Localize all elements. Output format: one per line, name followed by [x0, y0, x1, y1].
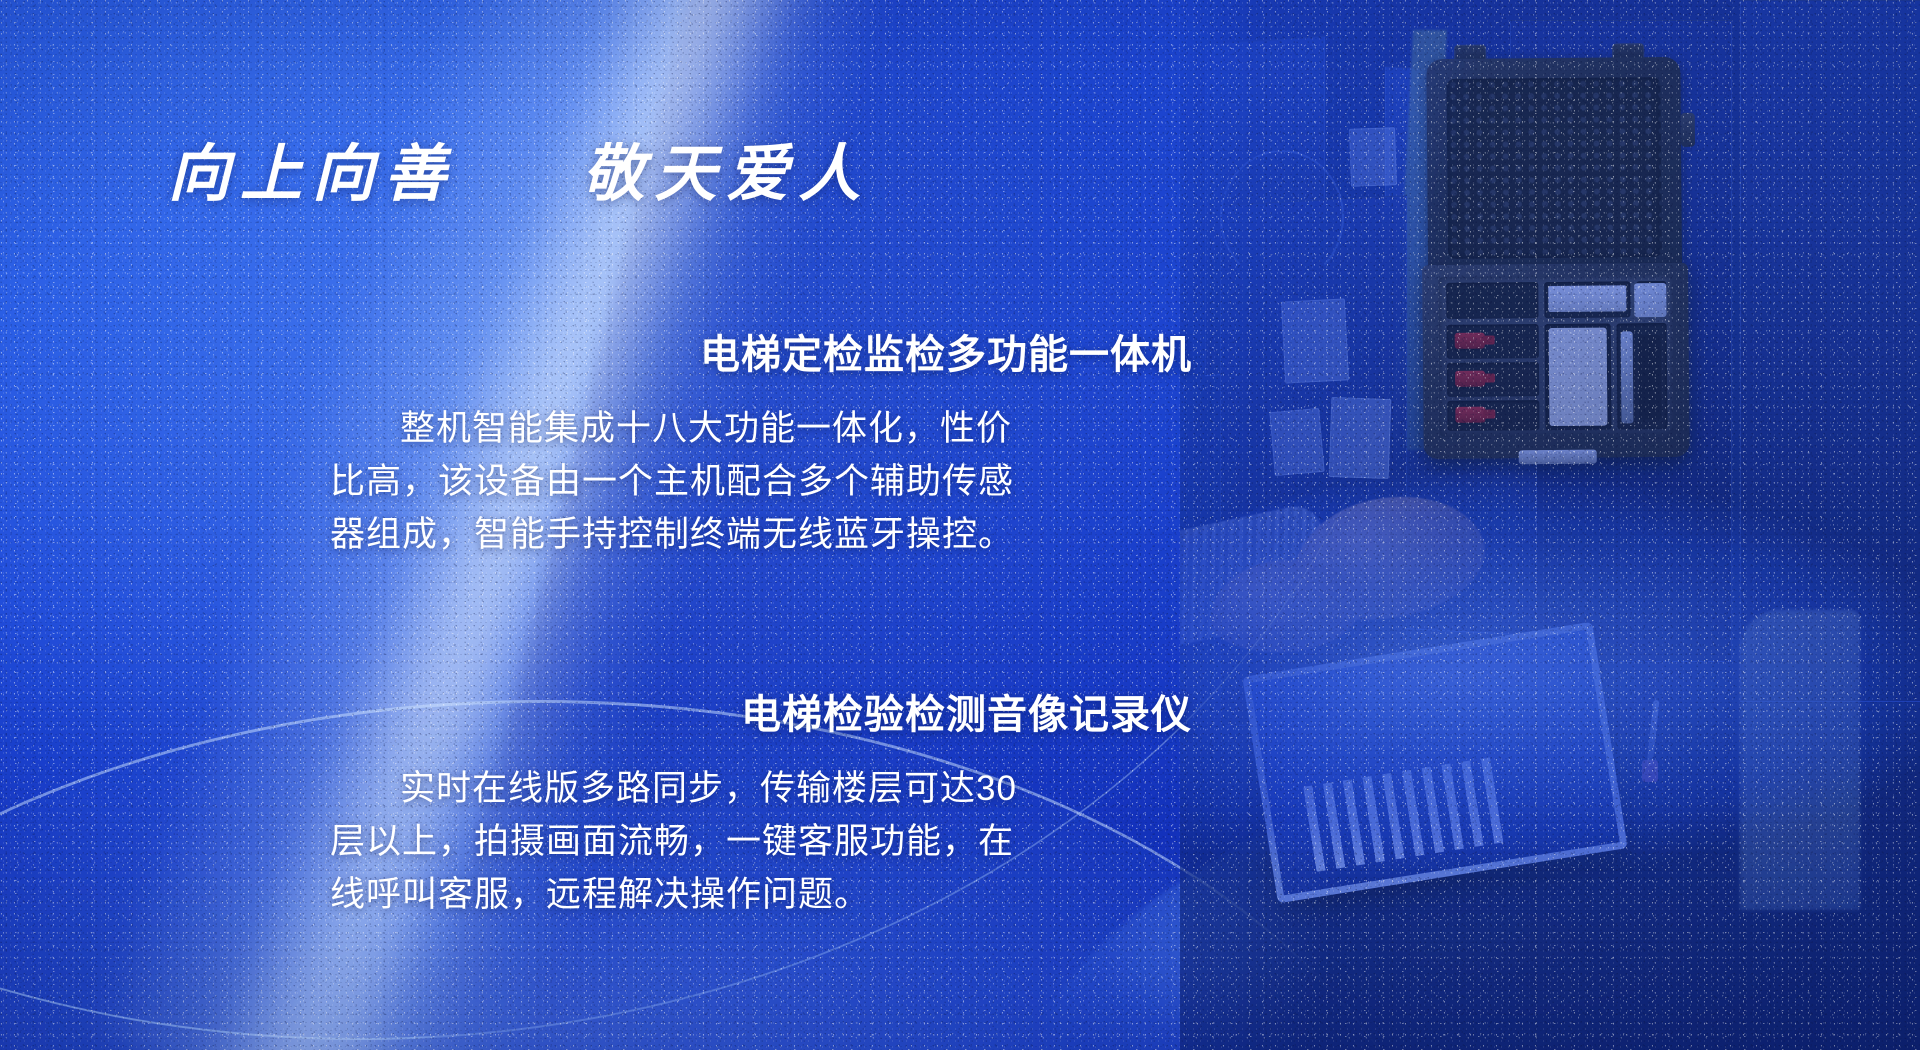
feature-1-line-2: 比高，该设备由一个主机配合多个辅助传感 [330, 455, 1200, 508]
promo-poster: 向上向善 敬天爱人 电梯定检监检多功能一体机 整机智能集成十八大功能一体化，性价… [0, 0, 1920, 1050]
feature-paragraph-2: 实时在线版多路同步，传输楼层可达30 层以上，拍摄画面流畅，一键客服功能，在 线… [330, 762, 1200, 922]
brand-slogan: 向上向善 敬天爱人 [168, 140, 870, 208]
feature-2-line-3: 线呼叫客服，远程解决操作问题。 [330, 868, 1200, 921]
feature-1-line-1: 整机智能集成十八大功能一体化，性价 [330, 402, 1200, 455]
feature-1-line-3: 器组成，智能手持控制终端无线蓝牙操控。 [330, 508, 1200, 561]
feature-block-2: 电梯检验检测音像记录仪 实时在线版多路同步，传输楼层可达30 层以上，拍摄画面流… [330, 690, 1200, 922]
feature-heading-2: 电梯检验检测音像记录仪 [330, 690, 1200, 740]
feature-heading-1: 电梯定检监检多功能一体机 [330, 330, 1200, 380]
feature-block-1: 电梯定检监检多功能一体机 整机智能集成十八大功能一体化，性价 比高，该设备由一个… [330, 330, 1200, 562]
feature-2-line-1: 实时在线版多路同步，传输楼层可达30 [330, 762, 1200, 815]
feature-paragraph-1: 整机智能集成十八大功能一体化，性价 比高，该设备由一个主机配合多个辅助传感 器组… [330, 402, 1200, 562]
feature-2-line-2: 层以上，拍摄画面流畅，一键客服功能，在 [330, 815, 1200, 868]
